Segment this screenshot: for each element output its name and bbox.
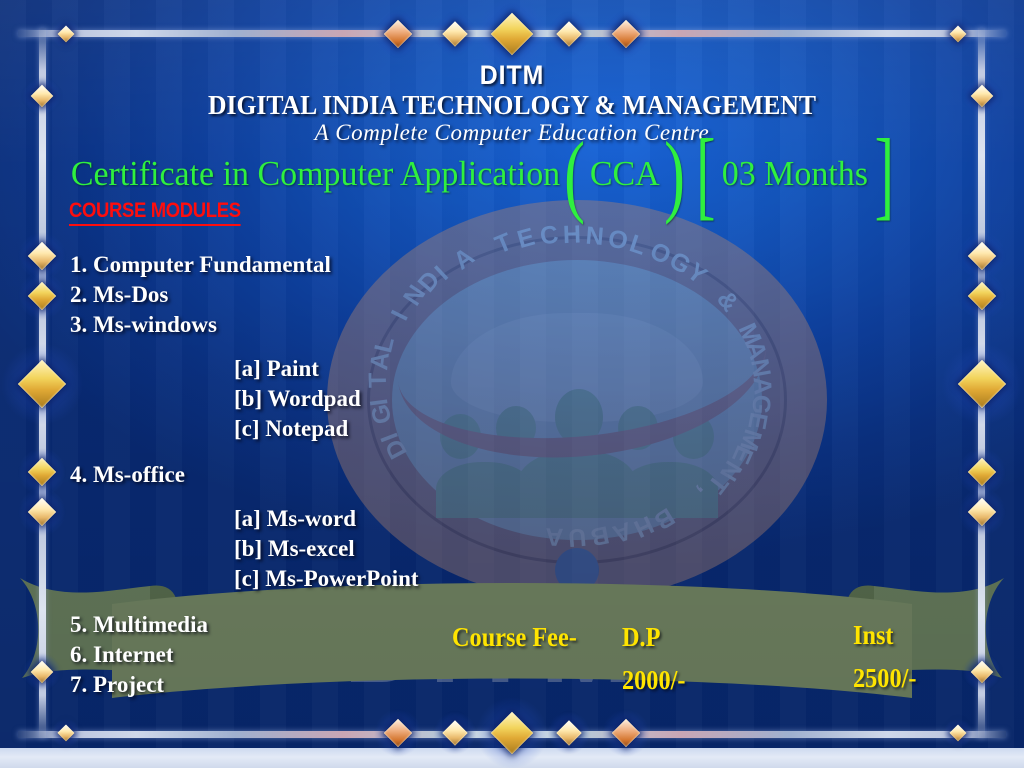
installment-label: Inst [853,620,894,651]
module-spacer [70,490,490,504]
seal-ring-letter: M [732,319,767,350]
course-modules-heading: COURSE MODULES [69,199,241,226]
module-item: 3. Ms-windows [70,310,490,340]
border-diamond-ornament [384,20,412,48]
border-diamond-ornament [28,498,56,526]
seal-person-left1 [496,406,537,451]
border-diamond-ornament [31,661,54,684]
seal-ring-letter: N [585,222,605,252]
seal-torso-center [518,450,636,517]
module-item: 4. Ms-office [70,460,490,490]
seal-ring-letter: O [605,224,630,256]
border-diamond-ornament [968,498,996,526]
module-sub-item: [b] Wordpad [70,384,490,414]
border-diamond-ornament [491,13,533,55]
seal-person-right2 [673,414,714,459]
seal-ring-letter: B [649,501,680,535]
seal-ring-letter: B [588,519,612,551]
border-diamond-ornament [18,360,66,408]
border-diamond-ornament [612,20,640,48]
course-title-main: Certificate in Computer Application [71,154,560,193]
installment-amount: 2500/- [853,663,916,694]
border-diamond-ornament [968,282,996,310]
module-spacer [70,594,490,610]
dp-label: D.P [622,622,660,653]
module-item: 7. Project [70,670,490,700]
seal-ring-letter: & [710,285,744,317]
course-title: Certificate in Computer Application(CCA)… [71,152,900,191]
seal-ring-letter: E [741,410,772,432]
border-diamond-ornament [556,720,581,745]
border-diamond-ornament [28,242,56,270]
seal-bottom-dot [555,548,599,592]
course-fee-label: Course Fee- [452,622,577,653]
border-diamond-ornament [968,242,996,270]
border-diamond-ornament [612,719,640,747]
seal-ring-letter: O [645,237,675,272]
seal-ring-letter: M [733,426,767,454]
dp-amount: 2000/- [622,665,685,696]
module-sub-item: [c] Notepad [70,414,490,444]
seal-ring-letter: E [514,223,538,255]
border-diamond-ornament [971,661,994,684]
course-code: CCA [590,154,660,193]
module-sub-item: [b] Ms-excel [70,534,490,564]
seal-ring-letter: A [739,338,772,364]
institute-tagline: A Complete Computer Education Centre [0,120,1024,146]
module-sub-item: [c] Ms-PowerPoint [70,564,490,594]
seal-person-center [555,389,603,445]
seal-ring-letter: G [664,246,696,281]
border-diamond-ornament [442,720,467,745]
module-item: 6. Internet [70,640,490,670]
seal-ring-letter: H [629,509,658,543]
module-item: 5. Multimedia [70,610,490,640]
border-diamond-ornament [58,26,75,43]
border-diamond-ornament [58,725,75,742]
module-item: 2. Ms-Dos [70,280,490,310]
seal-ring-letter: Y [681,257,712,290]
border-diamond-ornament [950,26,967,43]
certificate-poster: DIGITALINDIATECHNOLOGY&MANAGEMENT,BHABUA… [0,0,1024,768]
module-spacer [70,444,490,460]
seal-ring-letter: , [692,481,718,506]
border-diamond-ornament [384,719,412,747]
seal-ring-letter: N [744,357,776,380]
seal-ring-letter: E [725,441,758,468]
seal-ring-letter: A [609,515,635,548]
seal-person-right1 [618,406,659,451]
module-sub-item: [a] Ms-word [70,504,490,534]
institute-full-name: DIGITAL INDIA TECHNOLOGY & MANAGEMENT [26,90,999,121]
seal-ring-letter: T [491,228,516,261]
seal-ring-letter: A [545,521,564,551]
seal-ring-letter: G [746,394,776,415]
module-list: 1. Computer Fundamental2. Ms-Dos3. Ms-wi… [70,250,490,700]
seal-torso-right [621,462,717,518]
seal-ring-letter: U [567,522,587,552]
border-diamond-ornament [968,458,996,486]
border-diamond-ornament [556,21,581,46]
seal-ring-letter: L [626,229,650,261]
border-diamond-ornament [950,725,967,742]
seal-ring-letter: T [701,469,733,499]
seal-ring-letter: C [538,220,560,251]
border-diamond-ornament [442,21,467,46]
module-spacer [70,340,490,354]
border-diamond-ornament [28,458,56,486]
border-diamond-ornament [958,360,1006,408]
institute-abbr: DITM [41,60,983,91]
course-duration: 03 Months [722,154,868,193]
module-sub-item: [a] Paint [70,354,490,384]
module-item: 1. Computer Fundamental [70,250,490,280]
seal-ring-letter: N [713,455,747,485]
seal-ring-letter: A [747,376,777,396]
border-diamond-ornament [28,282,56,310]
